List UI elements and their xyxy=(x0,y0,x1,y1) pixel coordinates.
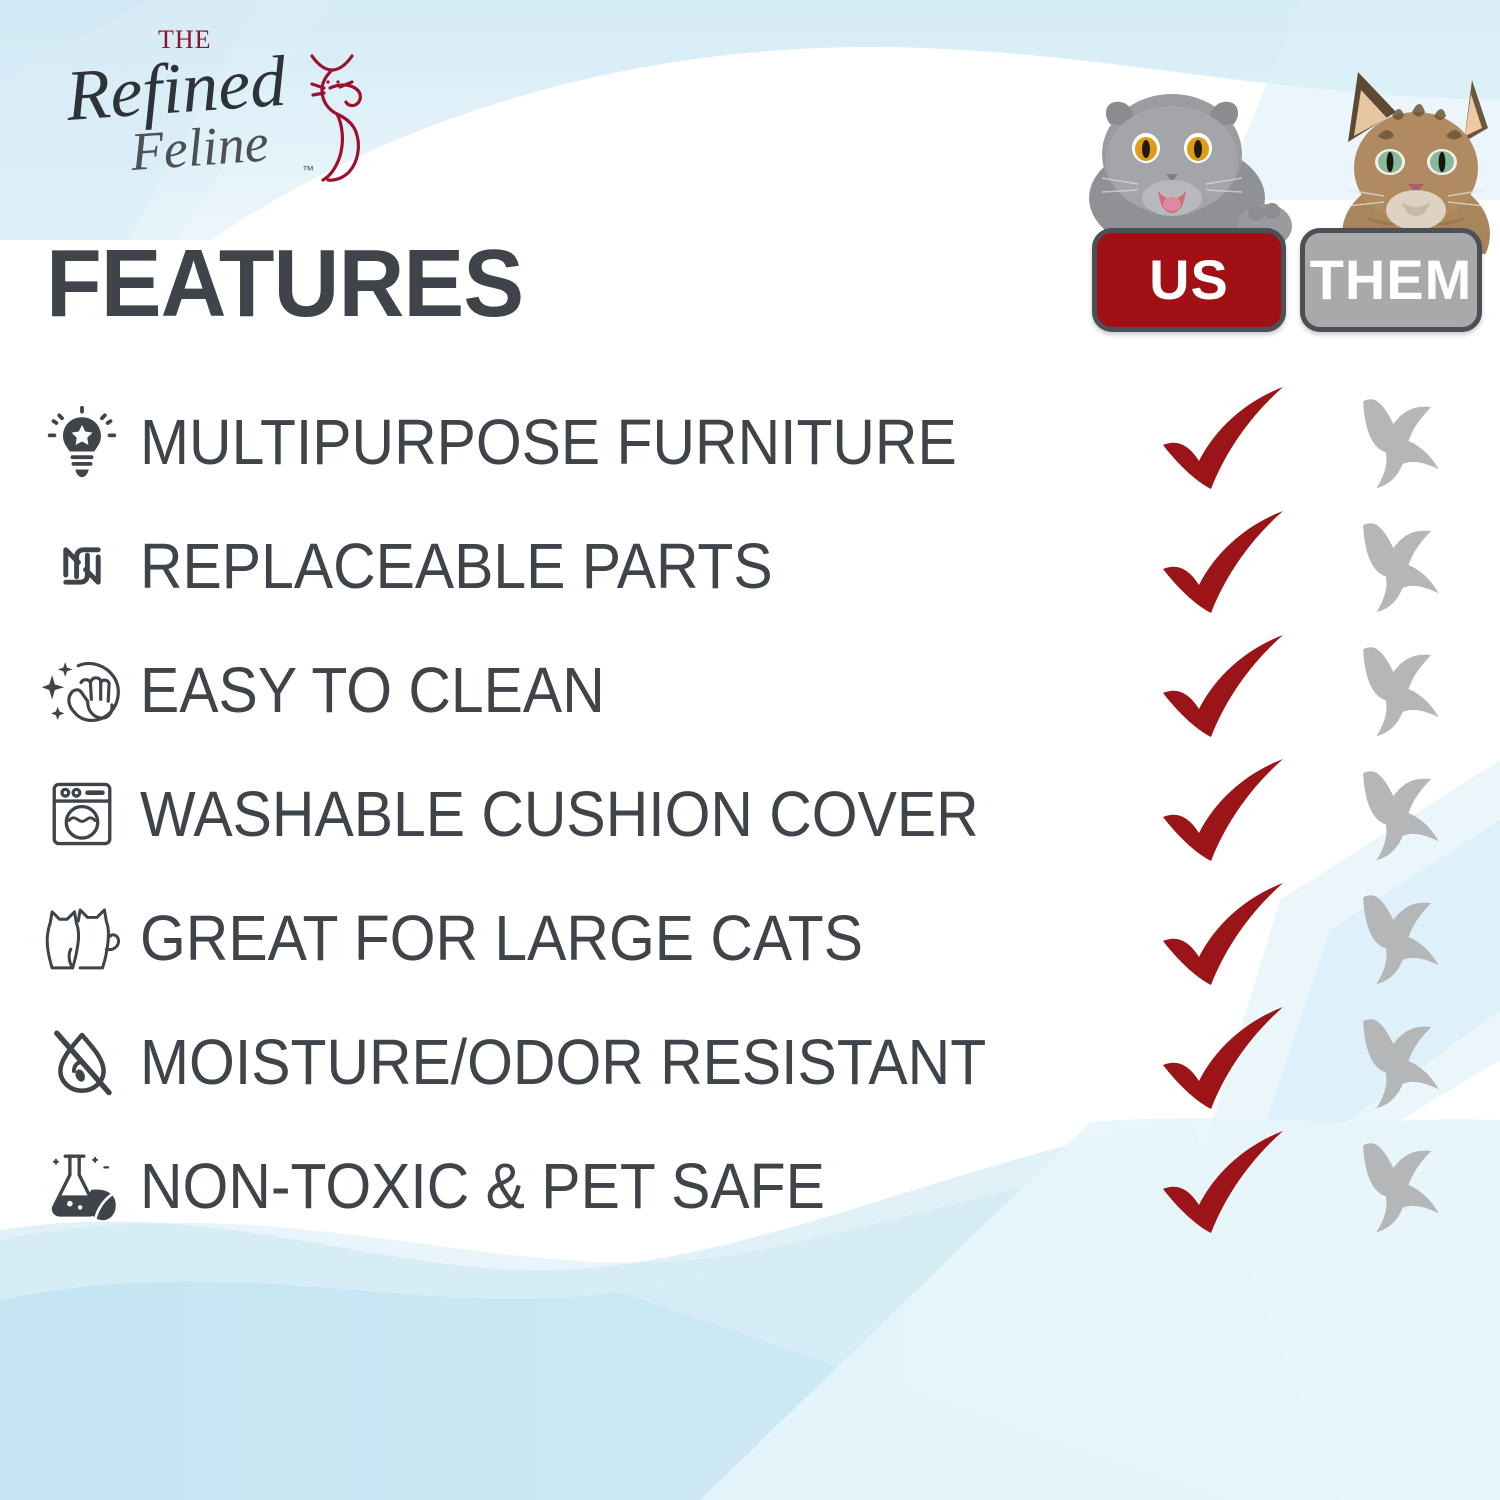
check-icon xyxy=(1150,1007,1300,1117)
cat-silhouette-icon xyxy=(312,56,360,180)
check-icon xyxy=(1150,1131,1300,1241)
cross-icon xyxy=(1340,883,1460,993)
feature-label: MOISTURE/ODOR RESISTANT xyxy=(140,1030,986,1094)
replace-arrows-icon xyxy=(34,524,130,608)
brand-logo: THE Refined Feline ™ xyxy=(40,18,370,186)
feature-row: EASY TO CLEAN xyxy=(0,628,1500,752)
check-icon xyxy=(1150,759,1300,869)
cross-icon xyxy=(1340,511,1460,621)
column-header-us[interactable]: US xyxy=(1092,228,1286,332)
check-icon xyxy=(1150,635,1300,745)
column-header-them[interactable]: THEM xyxy=(1300,228,1482,332)
flask-leaf-icon xyxy=(34,1144,130,1228)
column-header-them-label: THEM xyxy=(1310,252,1473,308)
brand-logo-svg: THE Refined Feline ™ xyxy=(40,18,370,186)
feature-row: NON-TOXIC & PET SAFE xyxy=(0,1124,1500,1248)
cross-icon xyxy=(1340,1131,1460,1241)
feature-label: GREAT FOR LARGE CATS xyxy=(140,906,863,970)
check-icon xyxy=(1150,883,1300,993)
column-header-us-label: US xyxy=(1149,252,1229,308)
cross-icon xyxy=(1340,759,1460,869)
brand-feline-text: Feline xyxy=(128,112,271,182)
cross-icon xyxy=(1340,387,1460,497)
header-cat-photos xyxy=(1080,58,1492,254)
washing-machine-icon xyxy=(34,772,130,856)
feature-row: WASHABLE CUSHION COVER xyxy=(0,752,1500,876)
check-icon xyxy=(1150,387,1300,497)
feature-label: EASY TO CLEAN xyxy=(140,658,605,722)
feature-comparison-infographic: THE Refined Feline ™ xyxy=(0,0,1500,1500)
feature-row: MULTIPURPOSE FURNITURE xyxy=(0,380,1500,504)
verdict-column-headers: US THEM xyxy=(1092,228,1482,332)
hand-wiping-sparkle-icon xyxy=(34,648,130,732)
two-cats-icon xyxy=(34,896,130,980)
brand-trademark-text: ™ xyxy=(302,163,314,177)
tabby-cat-photo xyxy=(1342,72,1490,254)
header-cats-svg xyxy=(1080,58,1492,254)
feature-row: REPLACEABLE PARTS xyxy=(0,504,1500,628)
feature-row: MOISTURE/ODOR RESISTANT xyxy=(0,1000,1500,1124)
water-drop-slash-icon xyxy=(34,1020,130,1104)
cross-icon xyxy=(1340,1007,1460,1117)
lightbulb-star-icon xyxy=(34,400,130,484)
feature-label: REPLACEABLE PARTS xyxy=(140,534,773,598)
feature-label: MULTIPURPOSE FURNITURE xyxy=(140,410,957,474)
feature-list: MULTIPURPOSE FURNITURE REPLACEABLE PARTS xyxy=(0,380,1500,1248)
check-icon xyxy=(1150,511,1300,621)
feature-label: WASHABLE CUSHION COVER xyxy=(140,782,979,846)
cross-icon xyxy=(1340,635,1460,745)
feature-label: NON-TOXIC & PET SAFE xyxy=(140,1154,825,1218)
page-title: FEATURES xyxy=(46,236,523,332)
feature-row: GREAT FOR LARGE CATS xyxy=(0,876,1500,1000)
